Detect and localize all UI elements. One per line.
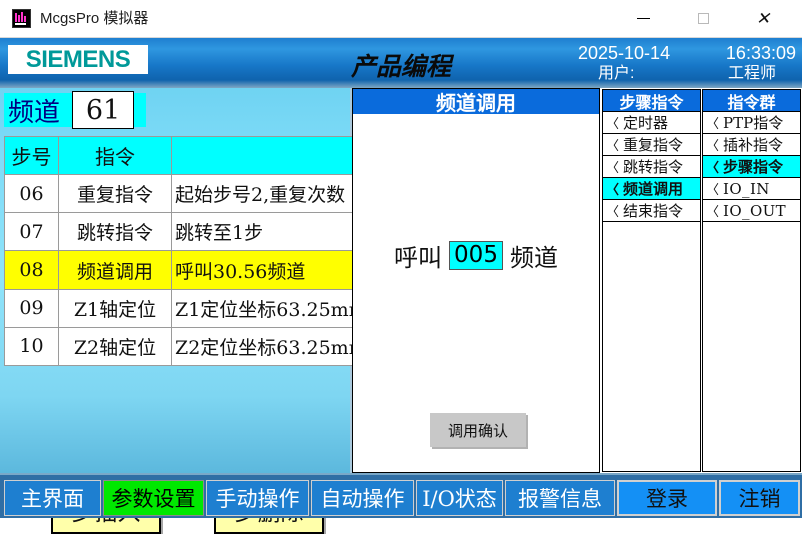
app-icon	[12, 9, 31, 28]
table-cell-command: 跳转指令	[59, 213, 172, 251]
app-window: McgsPro 模拟器 ✕ SIEMENS 产品编程 2025-10-14 16…	[0, 0, 802, 518]
nav-button-3[interactable]: 自动操作	[311, 480, 414, 516]
table-row[interactable]: 06重复指令起始步号2,重复次数	[5, 175, 353, 213]
call-suffix-label: 频道	[510, 238, 558, 273]
bottom-navbar: 主界面参数设置手动操作自动操作I/O状态报警信息登录注销	[0, 473, 802, 518]
instruction-item[interactable]: 〈结束指令	[603, 200, 700, 222]
instruction-item-label: IO_IN	[723, 180, 770, 198]
instruction-item-label: 插补指令	[723, 134, 783, 155]
chevron-left-icon: 〈	[706, 135, 719, 154]
maximize-button[interactable]	[680, 0, 726, 37]
table-cell-command: Z2轴定位	[59, 327, 172, 365]
chevron-left-icon: 〈	[706, 201, 719, 220]
channel-input[interactable]: 61	[72, 91, 134, 129]
call-row: 呼叫 005 频道	[353, 237, 599, 273]
call-confirm-button[interactable]: 调用确认	[430, 413, 526, 447]
channel-call-dialog: 频道调用 呼叫 005 频道 调用确认	[352, 88, 600, 473]
chevron-left-icon: 〈	[706, 113, 719, 132]
nav-button-0[interactable]: 主界面	[4, 480, 101, 516]
instruction-item-label: 定时器	[623, 112, 668, 133]
call-channel-input[interactable]: 005	[449, 241, 503, 270]
instruction-item-label: 结束指令	[623, 200, 683, 221]
table-cell-step: 10	[5, 327, 59, 365]
chevron-left-icon: 〈	[706, 179, 719, 198]
channel-field: 频道 61	[4, 93, 146, 127]
instruction-item[interactable]: 〈步骤指令	[703, 156, 800, 178]
nav-button-6[interactable]: 登录	[617, 480, 717, 516]
instruction-item-label: 频道调用	[623, 178, 683, 199]
table-cell-step: 07	[5, 213, 59, 251]
table-header-row: 步号指令	[5, 137, 353, 175]
hmi-header: SIEMENS 产品编程 2025-10-14 16:33:09 用户: 工程师	[0, 38, 802, 88]
date-display: 2025-10-14	[578, 42, 670, 64]
chevron-left-icon: 〈	[606, 201, 619, 220]
chevron-left-icon: 〈	[606, 179, 619, 198]
instruction-item-label: 重复指令	[623, 134, 683, 155]
nav-button-2[interactable]: 手动操作	[206, 480, 309, 516]
nav-button-4[interactable]: I/O状态	[416, 480, 503, 516]
step-table: 步号指令06重复指令起始步号2,重复次数07跳转指令跳转至1步08频道调用呼叫3…	[4, 136, 353, 366]
instruction-item-label: 步骤指令	[723, 156, 783, 177]
instruction-item[interactable]: 〈PTP指令	[703, 112, 800, 134]
left-panel: 频道 61 步号指令06重复指令起始步号2,重复次数07跳转指令跳转至1步08频…	[0, 88, 352, 473]
table-header-cell: 步号	[5, 137, 59, 175]
table-cell-step: 08	[5, 251, 59, 289]
table-cell-command: 频道调用	[59, 251, 172, 289]
nav-button-5[interactable]: 报警信息	[505, 480, 615, 516]
window-title: McgsPro 模拟器	[40, 8, 148, 30]
table-header-cell: 指令	[59, 137, 172, 175]
time-display: 16:33:09	[726, 42, 796, 64]
instruction-group-column: 指令群 〈PTP指令〈插补指令〈步骤指令〈IO_IN〈IO_OUT	[702, 89, 801, 472]
step-instruction-column: 步骤指令 〈定时器〈重复指令〈跳转指令〈频道调用〈结束指令	[602, 89, 701, 472]
chevron-left-icon: 〈	[606, 135, 619, 154]
instruction-item[interactable]: 〈定时器	[603, 112, 700, 134]
instruction-item[interactable]: 〈跳转指令	[603, 156, 700, 178]
instruction-item[interactable]: 〈插补指令	[703, 134, 800, 156]
instruction-item-label: 跳转指令	[623, 156, 683, 177]
table-row[interactable]: 10Z2轴定位Z2定位坐标63.25mm	[5, 327, 353, 365]
instruction-item[interactable]: 〈IO_OUT	[703, 200, 800, 222]
table-cell-step: 06	[5, 175, 59, 213]
dialog-title: 频道调用	[353, 89, 599, 114]
instruction-group-header: 指令群	[703, 90, 800, 112]
table-cell-step: 09	[5, 289, 59, 327]
instruction-item[interactable]: 〈频道调用	[603, 178, 700, 200]
dialog-body: 呼叫 005 频道 调用确认	[353, 114, 599, 472]
instruction-item[interactable]: 〈重复指令	[603, 134, 700, 156]
maximize-icon	[698, 13, 709, 24]
table-row[interactable]: 08频道调用呼叫30.56频道	[5, 251, 353, 289]
close-icon: ✕	[756, 10, 770, 27]
table-cell-detail: 跳转至1步	[172, 213, 353, 251]
channel-label: 频道	[4, 92, 60, 129]
table-cell-command: Z1轴定位	[59, 289, 172, 327]
instruction-item-label: IO_OUT	[723, 202, 786, 220]
table-row[interactable]: 07跳转指令跳转至1步	[5, 213, 353, 251]
minimize-button[interactable]	[620, 0, 666, 37]
datetime-user-block: 2025-10-14 16:33:09 用户: 工程师	[578, 42, 796, 86]
nav-button-1[interactable]: 参数设置	[103, 480, 204, 516]
chevron-left-icon: 〈	[706, 157, 719, 176]
call-prefix-label: 呼叫	[394, 238, 442, 273]
close-button[interactable]: ✕	[740, 0, 786, 37]
table-cell-detail: Z1定位坐标63.25mm	[172, 289, 353, 327]
table-cell-detail: 呼叫30.56频道	[172, 251, 353, 289]
table-cell-command: 重复指令	[59, 175, 172, 213]
window-titlebar: McgsPro 模拟器 ✕	[0, 0, 802, 38]
chevron-left-icon: 〈	[606, 113, 619, 132]
table-row[interactable]: 09Z1轴定位Z1定位坐标63.25mm	[5, 289, 353, 327]
instruction-panel: 步骤指令 〈定时器〈重复指令〈跳转指令〈频道调用〈结束指令 指令群 〈PTP指令…	[601, 88, 802, 473]
user-value: 工程师	[728, 63, 776, 85]
chevron-left-icon: 〈	[606, 157, 619, 176]
table-cell-detail: Z2定位坐标63.25mm	[172, 327, 353, 365]
step-instruction-header: 步骤指令	[603, 90, 700, 112]
table-cell-detail: 起始步号2,重复次数	[172, 175, 353, 213]
instruction-item[interactable]: 〈IO_IN	[703, 178, 800, 200]
instruction-item-label: PTP指令	[723, 112, 783, 133]
table-header-cell	[172, 137, 353, 175]
nav-button-7[interactable]: 注销	[719, 480, 800, 516]
minimize-icon	[637, 18, 650, 19]
user-label: 用户:	[598, 63, 634, 85]
